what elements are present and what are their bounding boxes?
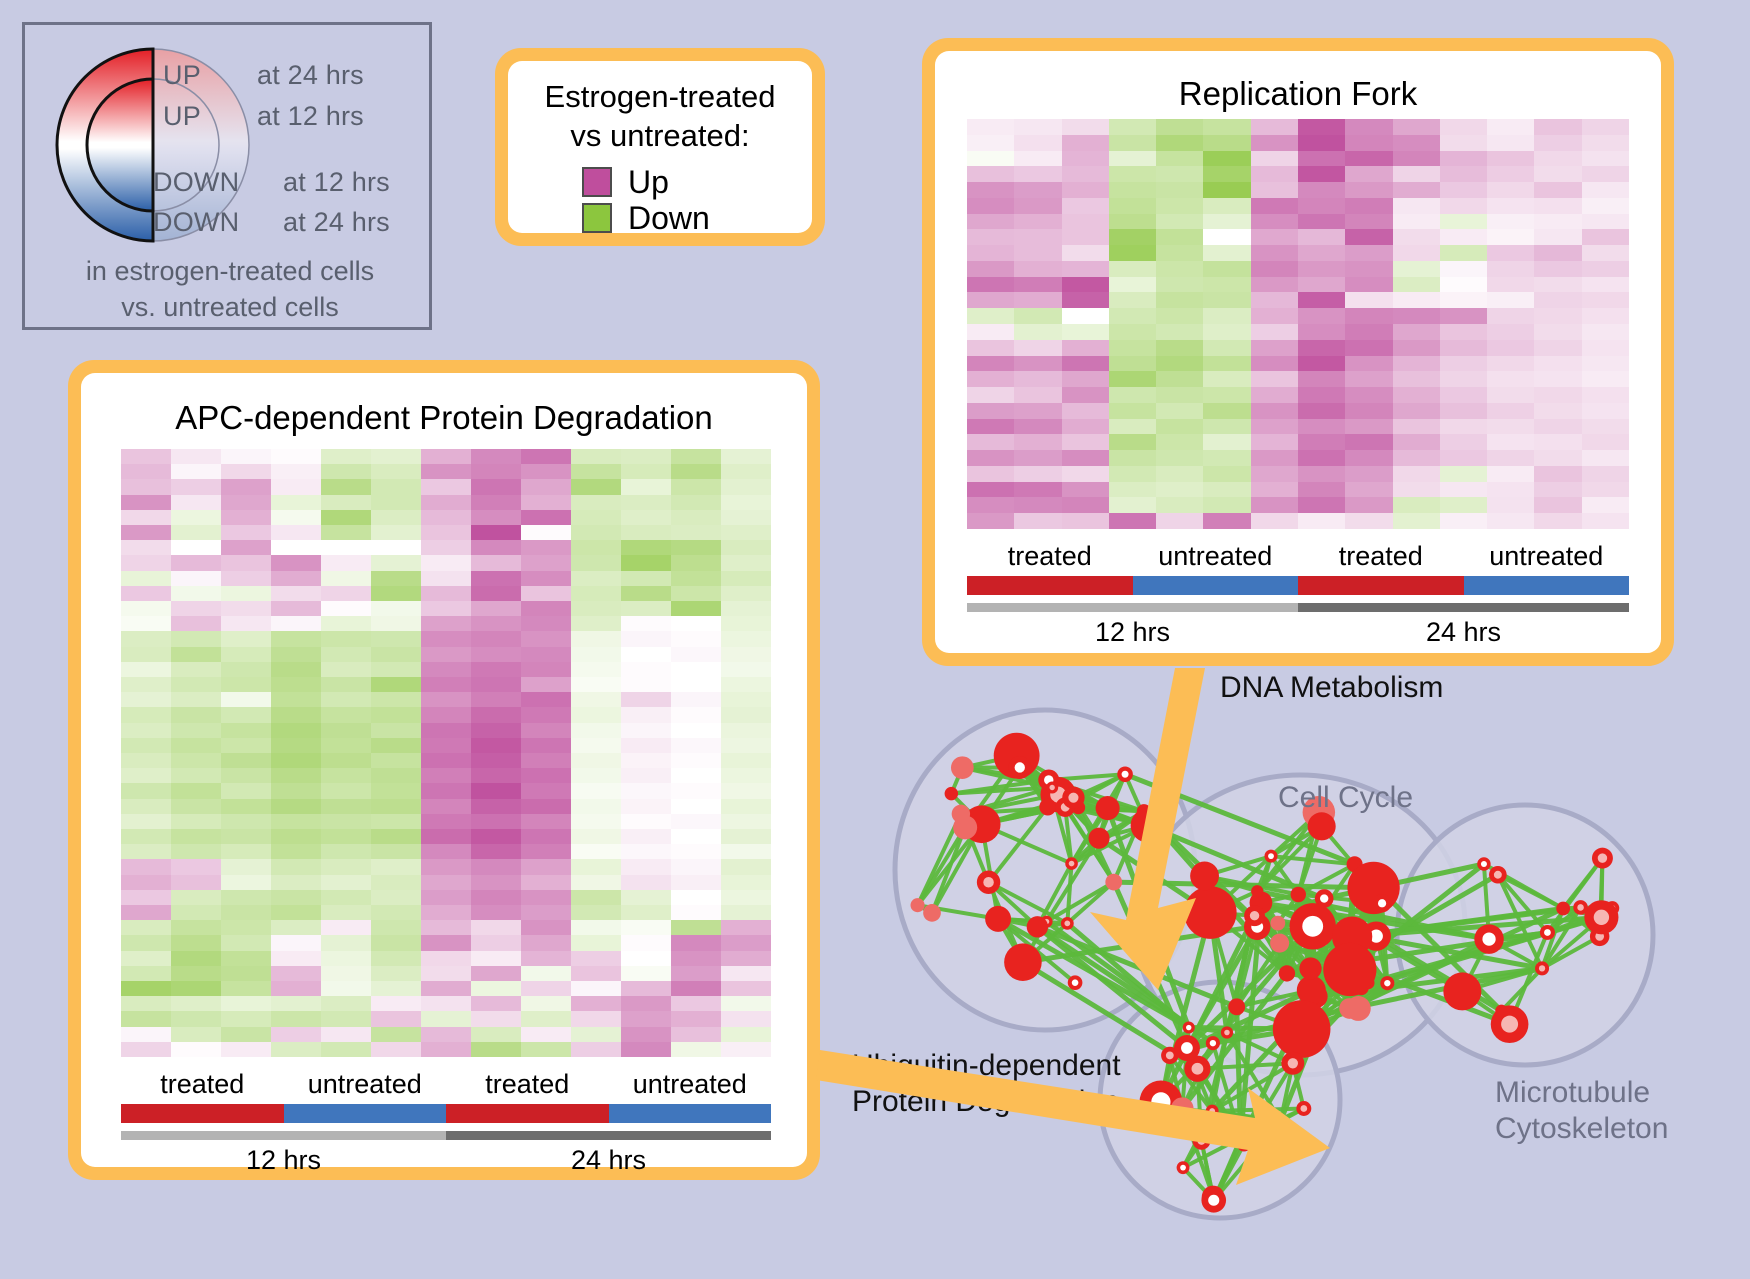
- down-color-swatch: [582, 203, 612, 233]
- network-cluster-label-microtubule: Microtubule Cytoskeleton: [1495, 1075, 1668, 1147]
- col-label-untreated-24: untreated: [1464, 539, 1630, 573]
- figure-canvas: UP at 24 hrs UP at 12 hrs DOWN at 12 hrs…: [0, 0, 1750, 1279]
- panel-replication-fork: Replication Fork treated untreated treat…: [922, 38, 1674, 666]
- bar-untreated-12: [1133, 576, 1299, 595]
- bar-12hrs: [967, 603, 1298, 612]
- colorwheel-legend-footer: in estrogen-treated cells vs. untreated …: [25, 253, 435, 325]
- heatmap-replication-fork: [967, 119, 1629, 529]
- timepoint-labels: 12 hrs 24 hrs: [967, 614, 1629, 650]
- legend-label-down: Down: [628, 201, 710, 235]
- wheel-time-up-24: at 24 hrs: [257, 60, 364, 91]
- timepoint-label-24: 24 hrs: [1298, 614, 1629, 650]
- pathway-network-diagram: DNA Metabolism Cell Cycle Microtubule Cy…: [880, 660, 1750, 1279]
- col-label-treated-24: treated: [446, 1067, 609, 1101]
- timepoint-label-24: 24 hrs: [446, 1142, 771, 1178]
- bar-treated-12: [967, 576, 1133, 595]
- wheel-time-down-12: at 12 hrs: [283, 167, 390, 198]
- treatment-color-bar: [121, 1104, 771, 1123]
- updown-legend-items: Up Down: [508, 165, 812, 235]
- legend-footer-line1: in estrogen-treated cells: [25, 253, 435, 289]
- timepoint-label-12: 12 hrs: [967, 614, 1298, 650]
- wheel-time-down-24: at 24 hrs: [283, 207, 390, 238]
- timepoint-label-12: 12 hrs: [121, 1142, 446, 1178]
- panel-title-apc: APC-dependent Protein Degradation: [81, 399, 807, 437]
- column-group-labels: treated untreated treated untreated: [967, 539, 1629, 573]
- wheel-label-down-12: DOWN: [153, 167, 239, 198]
- wheel-time-up-12: at 12 hrs: [257, 101, 364, 132]
- treatment-color-bar: [967, 576, 1629, 595]
- heatmap-apc-degradation: [121, 449, 771, 1057]
- timepoint-labels: 12 hrs 24 hrs: [121, 1142, 771, 1178]
- bar-24hrs: [1298, 603, 1629, 612]
- wheel-label-up-12: UP: [163, 101, 201, 132]
- col-label-untreated-12: untreated: [1133, 539, 1299, 573]
- annotation-apc: treated untreated treated untreated 12 h: [121, 1067, 771, 1178]
- col-label-untreated-24: untreated: [609, 1067, 772, 1101]
- up-color-swatch: [582, 167, 612, 197]
- bar-untreated-12: [284, 1104, 447, 1123]
- panel-apc-degradation: APC-dependent Protein Degradation treate…: [68, 360, 820, 1180]
- legend-item-down: Down: [582, 201, 812, 235]
- updown-legend-panel: Estrogen-treated vs untreated: Up Down: [495, 48, 825, 246]
- timepoint-color-bar: [121, 1131, 771, 1140]
- bar-treated-12: [121, 1104, 284, 1123]
- colorwheel-legend-box: UP at 24 hrs UP at 12 hrs DOWN at 12 hrs…: [22, 22, 432, 330]
- bar-12hrs: [121, 1131, 446, 1140]
- updown-legend-title-line2: vs untreated:: [508, 116, 812, 155]
- bar-untreated-24: [609, 1104, 772, 1123]
- col-label-treated-24: treated: [1298, 539, 1464, 573]
- bar-untreated-24: [1464, 576, 1630, 595]
- col-label-treated-12: treated: [967, 539, 1133, 573]
- column-group-labels: treated untreated treated untreated: [121, 1067, 771, 1101]
- timepoint-color-bar: [967, 603, 1629, 612]
- bar-treated-24: [1298, 576, 1464, 595]
- wheel-label-up-24: UP: [163, 60, 201, 91]
- legend-item-up: Up: [582, 165, 812, 199]
- col-label-untreated-12: untreated: [284, 1067, 447, 1101]
- network-cluster-label-dna-metabolism: DNA Metabolism: [1220, 670, 1443, 706]
- network-cluster-label-ubiquitin: Ubiquitin-dependent Protein Degradation: [852, 1048, 1121, 1120]
- updown-legend-title-line1: Estrogen-treated: [508, 77, 812, 116]
- network-cluster-label-cell-cycle: Cell Cycle: [1278, 780, 1413, 816]
- bar-treated-24: [446, 1104, 609, 1123]
- col-label-treated-12: treated: [121, 1067, 284, 1101]
- bar-24hrs: [446, 1131, 771, 1140]
- annotation-replication-fork: treated untreated treated untreated 12 h: [967, 539, 1629, 650]
- legend-label-up: Up: [628, 165, 669, 199]
- panel-title-replication-fork: Replication Fork: [935, 75, 1661, 113]
- legend-footer-line2: vs. untreated cells: [25, 289, 435, 325]
- wheel-label-down-24: DOWN: [153, 207, 239, 238]
